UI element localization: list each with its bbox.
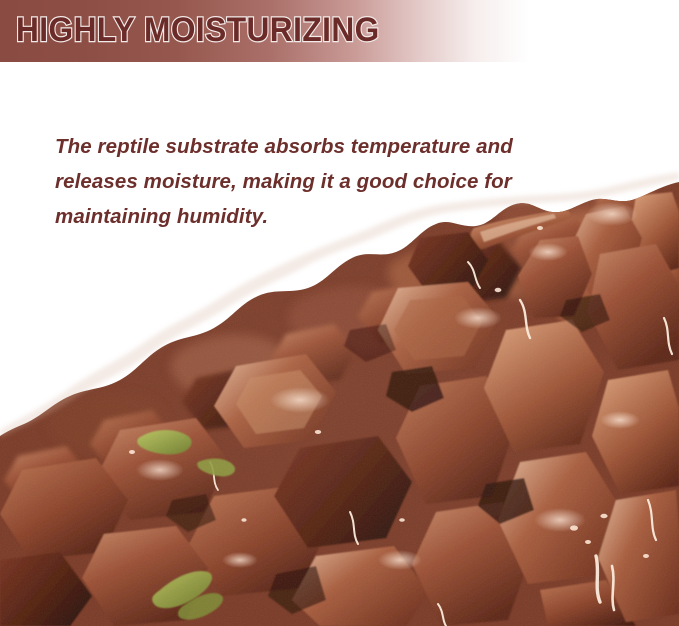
page-title: HIGHLY MOISTURIZING — [16, 13, 380, 47]
description-paragraph: The reptile substrate absorbs temperatur… — [55, 129, 525, 234]
header-banner: HIGHLY MOISTURIZING — [0, 0, 679, 62]
product-infographic: HIGHLY MOISTURIZING The reptile substrat… — [0, 0, 679, 626]
moss-detail — [137, 430, 235, 620]
bark-substrate-photo — [0, 0, 679, 626]
